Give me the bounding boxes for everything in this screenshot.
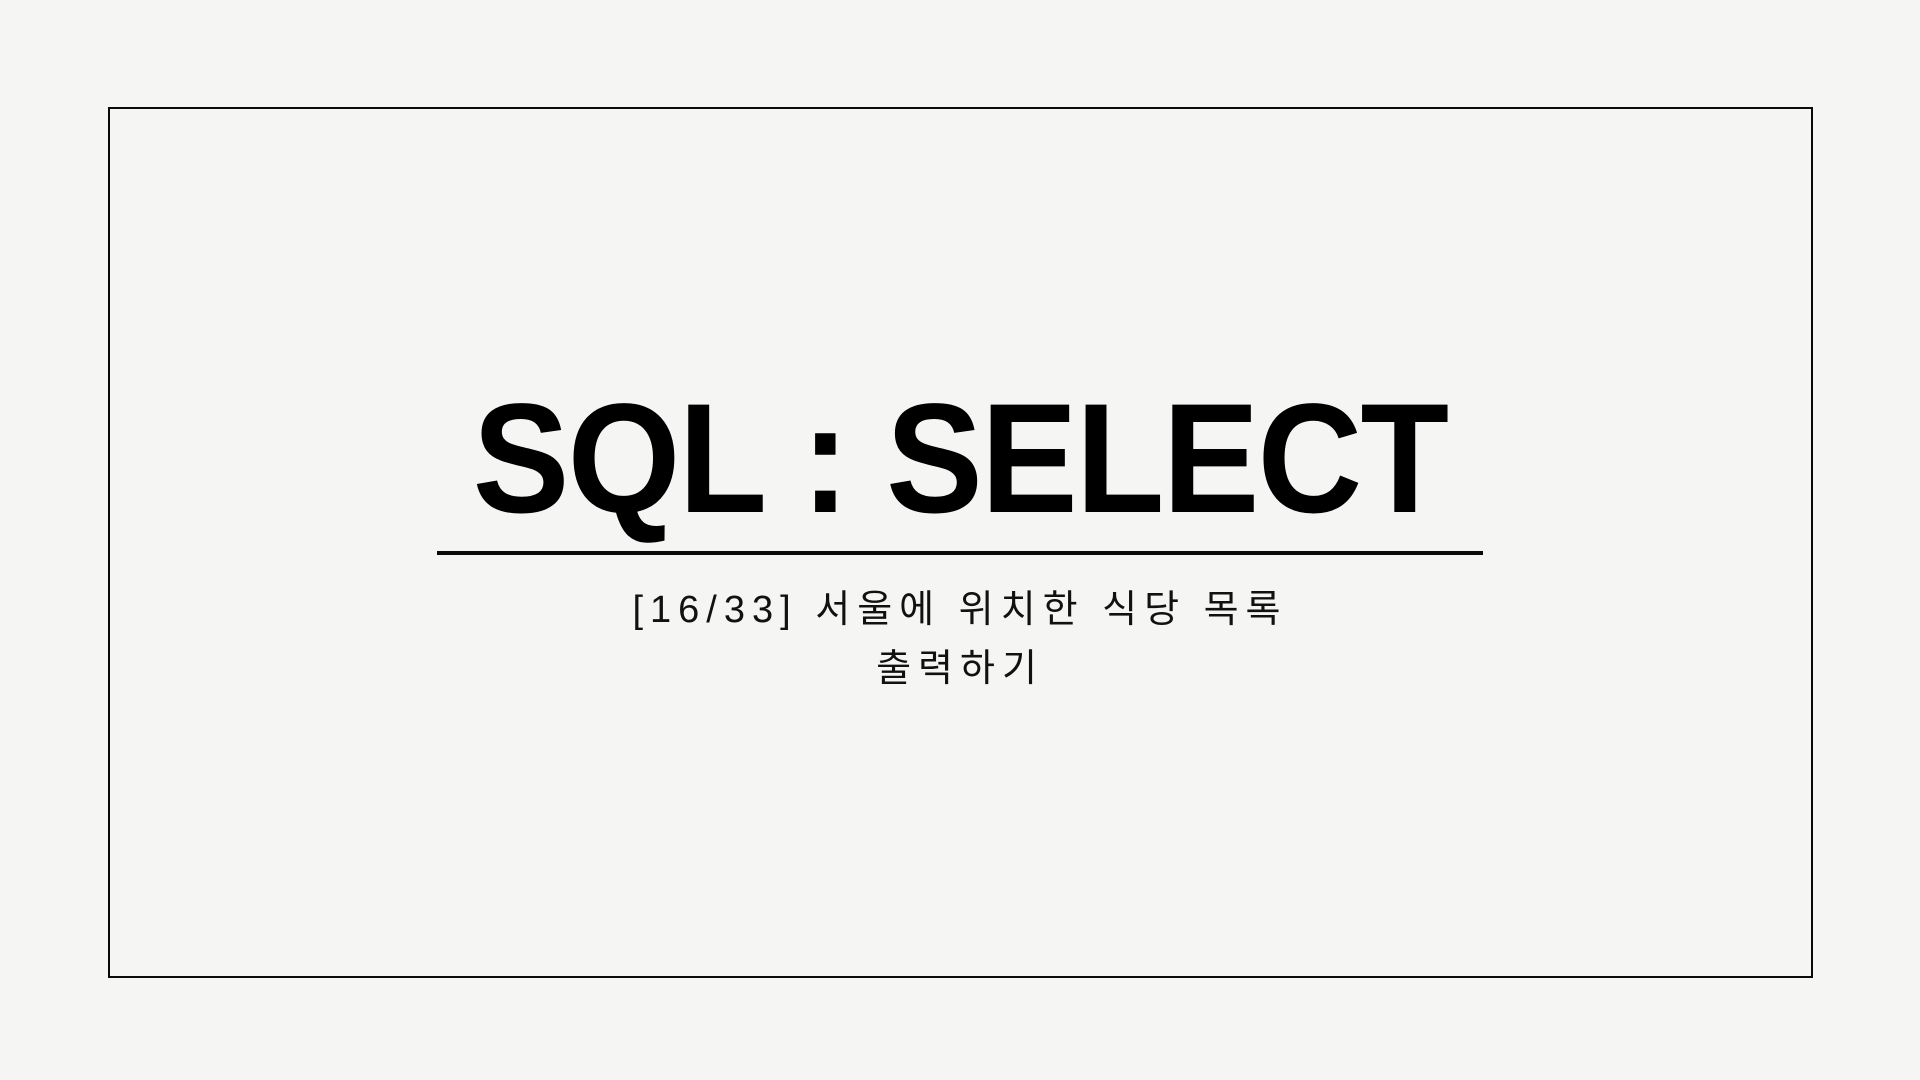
slide-root: SQL : SELECT [16/33] 서울에 위치한 식당 목록 출력하기 xyxy=(0,0,1920,1080)
slide-border-frame xyxy=(108,107,1813,978)
